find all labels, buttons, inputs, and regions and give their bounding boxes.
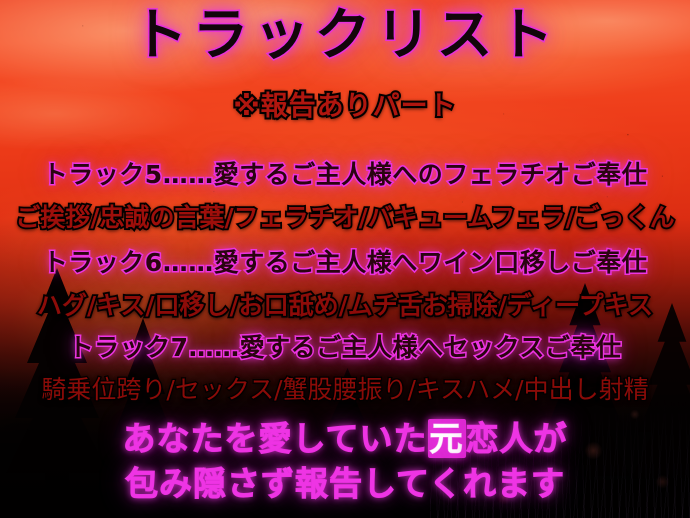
track-detail-5: ご挨拶/忠誠の言葉/フェラチオ/バキュームフェラ/ごっくん [0, 198, 690, 234]
tagline-line-2: 包み隠さず報告してくれます [0, 457, 690, 505]
track-detail-6: ハグ/キス/口移し/お口舐め/ムチ舌お掃除/ディープキス [0, 286, 690, 322]
tagline-highlight-moto: 元 [428, 419, 466, 458]
page-title: トラックリスト [0, 8, 690, 64]
promo-image-canvas: トラックリスト ※報告ありパート トラック5……愛するご主人様へのフェラチオご奉… [0, 0, 690, 518]
track-heading-7: トラック7……愛するご主人様へセックスご奉仕 [0, 328, 690, 364]
tagline-line-1: あなたを愛していた元恋人が [0, 412, 690, 460]
track-heading-6: トラック6……愛するご主人様へワイン口移しご奉仕 [0, 243, 690, 279]
track-detail-7: 騎乗位跨り/セックス/蟹股腰振り/キスハメ/中出し射精 [0, 370, 690, 406]
page-subtitle: ※報告ありパート [0, 84, 690, 123]
text-overlay: トラックリスト ※報告ありパート トラック5……愛するご主人様へのフェラチオご奉… [0, 0, 690, 518]
tagline-line-1-after: 恋人が [466, 419, 568, 458]
tagline-line-1-before: あなたを愛していた [122, 419, 427, 458]
track-heading-5: トラック5……愛するご主人様へのフェラチオご奉仕 [0, 155, 690, 191]
